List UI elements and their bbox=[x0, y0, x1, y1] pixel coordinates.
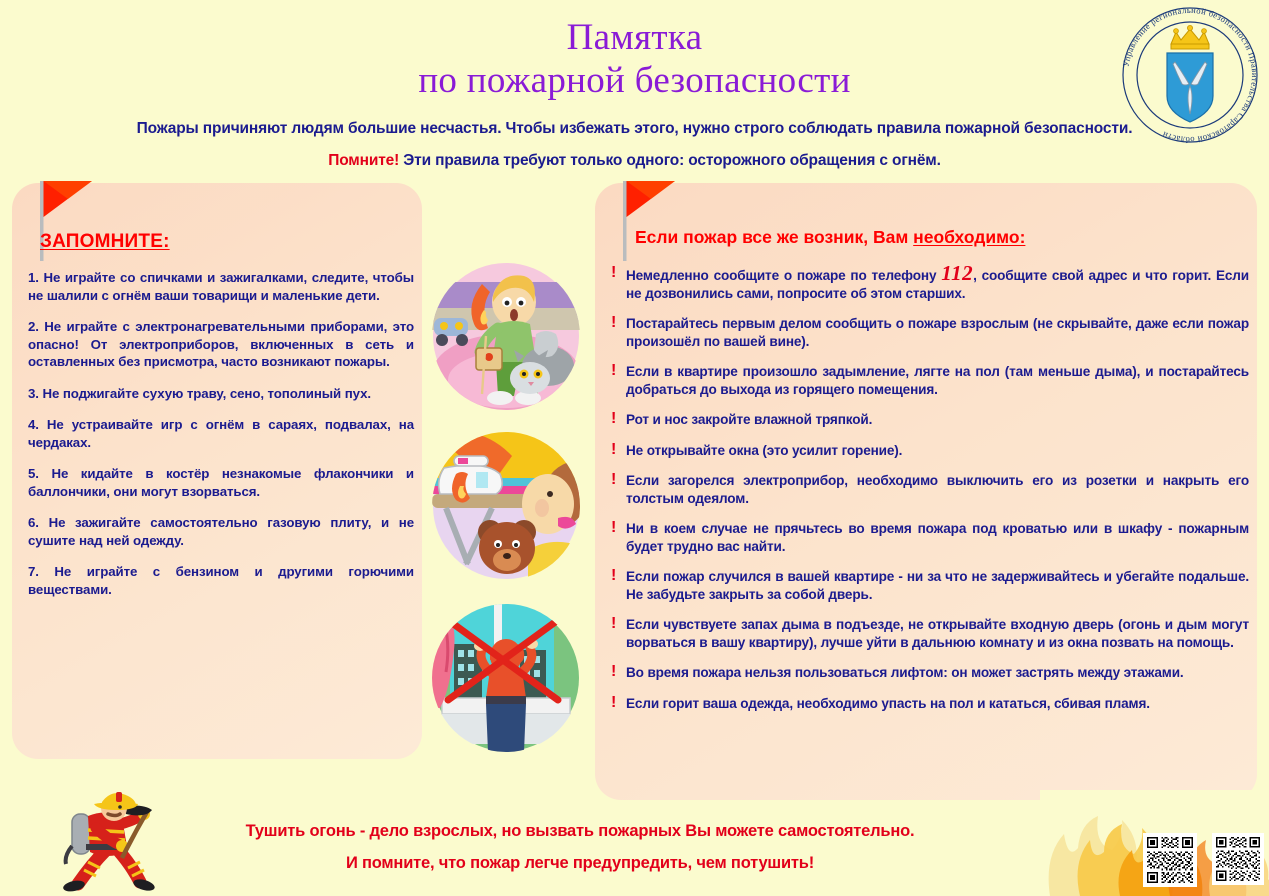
step-text: Если в квартире произошло задымление, ля… bbox=[626, 364, 1249, 397]
footer-line-2: И помните, что пожар легче предупредить,… bbox=[140, 847, 1020, 879]
list-item: 1. Не играйте со спичками и зажигалками,… bbox=[28, 269, 414, 304]
exclamation-bullet-icon: ! bbox=[611, 362, 616, 380]
fire-prevention-rules-list: 1. Не играйте со спичками и зажигалками,… bbox=[28, 269, 414, 612]
list-item: !Ни в коем случае не прячьтесь во время … bbox=[609, 520, 1249, 555]
list-item: !Постарайтесь первым делом сообщить о по… bbox=[609, 315, 1249, 350]
list-item: 7. Не играйте с бензином и другими горюч… bbox=[28, 563, 414, 598]
footer-line-1: Тушить огонь - дело взрослых, но вызвать… bbox=[140, 815, 1020, 847]
exclamation-bullet-icon: ! bbox=[611, 441, 616, 459]
list-item: !Если загорелся электроприбор, необходим… bbox=[609, 472, 1249, 507]
exclamation-bullet-icon: ! bbox=[611, 567, 616, 585]
exclamation-bullet-icon: ! bbox=[611, 519, 616, 537]
list-item: !Если горит ваша одежда, необходимо упас… bbox=[609, 695, 1249, 713]
title-line-1: Памятка bbox=[0, 16, 1269, 59]
child-playing-with-matches-illustration bbox=[432, 262, 580, 410]
list-item: !Во время пожара нельзя пользоваться лиф… bbox=[609, 664, 1249, 682]
list-item: 4. Не устраивайте игр с огнём в сараях, … bbox=[28, 416, 414, 451]
exclamation-bullet-icon: ! bbox=[611, 314, 616, 332]
do-not-open-window-illustration bbox=[432, 604, 580, 752]
remember-rest: Эти правила требуют только одного: остор… bbox=[399, 152, 941, 169]
step-text: Если чувствуете запах дыма в подъезде, н… bbox=[626, 617, 1249, 650]
step-text: Если пожар случился в вашей квартире - н… bbox=[626, 569, 1249, 602]
step-text: Во время пожара нельзя пользоваться лифт… bbox=[626, 665, 1184, 680]
step-text: Если загорелся электроприбор, необходимо… bbox=[626, 473, 1249, 506]
government-emblem-icon: Управление региональной безопасности Пра… bbox=[1119, 4, 1261, 146]
emergency-number: 112 bbox=[941, 261, 973, 285]
unattended-iron-illustration bbox=[432, 432, 580, 580]
qr-code-1[interactable] bbox=[1143, 833, 1197, 887]
step-text: Ни в коем случае не прячьтесь во время п… bbox=[626, 521, 1249, 554]
intro-remember-line: Помните! Эти правила требуют только одно… bbox=[0, 152, 1269, 170]
list-item: !Если в квартире произошло задымление, л… bbox=[609, 363, 1249, 398]
list-item: !Немедленно сообщите о пожаре по телефон… bbox=[609, 265, 1249, 302]
list-item: 6. Не зажигайте самостоятельно газовую п… bbox=[28, 514, 414, 549]
step-text: Не открывайте окна (это усилит горение). bbox=[626, 443, 902, 458]
qr-code-2[interactable] bbox=[1212, 833, 1264, 885]
list-item: !Если пожар случился в вашей квартире - … bbox=[609, 568, 1249, 603]
poster-title: Памятка по пожарной безопасности bbox=[0, 16, 1269, 102]
exclamation-bullet-icon: ! bbox=[611, 264, 616, 282]
intro-paragraph: Пожары причиняют людям большие несчастья… bbox=[0, 118, 1269, 140]
fire-response-steps-list: !Немедленно сообщите о пожаре по телефон… bbox=[609, 265, 1249, 725]
list-item: !Рот и нос закройте влажной тряпкой. bbox=[609, 411, 1249, 429]
red-flag-icon bbox=[617, 179, 681, 263]
fire-response-card: Если пожар все же возник, Вам необходимо… bbox=[595, 183, 1257, 800]
exclamation-bullet-icon: ! bbox=[611, 615, 616, 633]
exclamation-bullet-icon: ! bbox=[611, 471, 616, 489]
fire-safety-poster: Памятка по пожарной безопасности Пожары … bbox=[0, 0, 1269, 896]
step-text: Рот и нос закройте влажной тряпкой. bbox=[626, 412, 872, 427]
right-card-heading: Если пожар все же возник, Вам необходимо… bbox=[635, 227, 1025, 248]
right-card-heading-plain: Если пожар все же возник, Вам bbox=[635, 227, 913, 247]
list-item: !Не открывайте окна (это усилит горение)… bbox=[609, 442, 1249, 460]
remember-card: ЗАПОМНИТЕ: 1. Не играйте со спичками и з… bbox=[12, 183, 422, 759]
exclamation-bullet-icon: ! bbox=[611, 663, 616, 681]
exclamation-bullet-icon: ! bbox=[611, 410, 616, 428]
step-text-before: Немедленно сообщите о пожаре по телефону bbox=[626, 268, 941, 283]
right-card-heading-underlined: необходимо: bbox=[913, 227, 1025, 247]
exclamation-bullet-icon: ! bbox=[611, 694, 616, 712]
left-card-heading: ЗАПОМНИТЕ: bbox=[40, 231, 170, 253]
step-text: Постарайтесь первым делом сообщить о пож… bbox=[626, 316, 1249, 349]
remember-label: Помните! bbox=[328, 152, 399, 169]
list-item: !Если чувствуете запах дыма в подъезде, … bbox=[609, 616, 1249, 651]
footer-message: Тушить огонь - дело взрослых, но вызвать… bbox=[140, 815, 1020, 879]
title-line-2: по пожарной безопасности bbox=[0, 59, 1269, 102]
list-item: 5. Не кидайте в костёр незнакомые флакон… bbox=[28, 465, 414, 500]
list-item: 2. Не играйте с электронагревательными п… bbox=[28, 318, 414, 371]
list-item: 3. Не поджигайте сухую траву, сено, топо… bbox=[28, 385, 414, 403]
step-text: Если горит ваша одежда, необходимо упаст… bbox=[626, 696, 1150, 711]
